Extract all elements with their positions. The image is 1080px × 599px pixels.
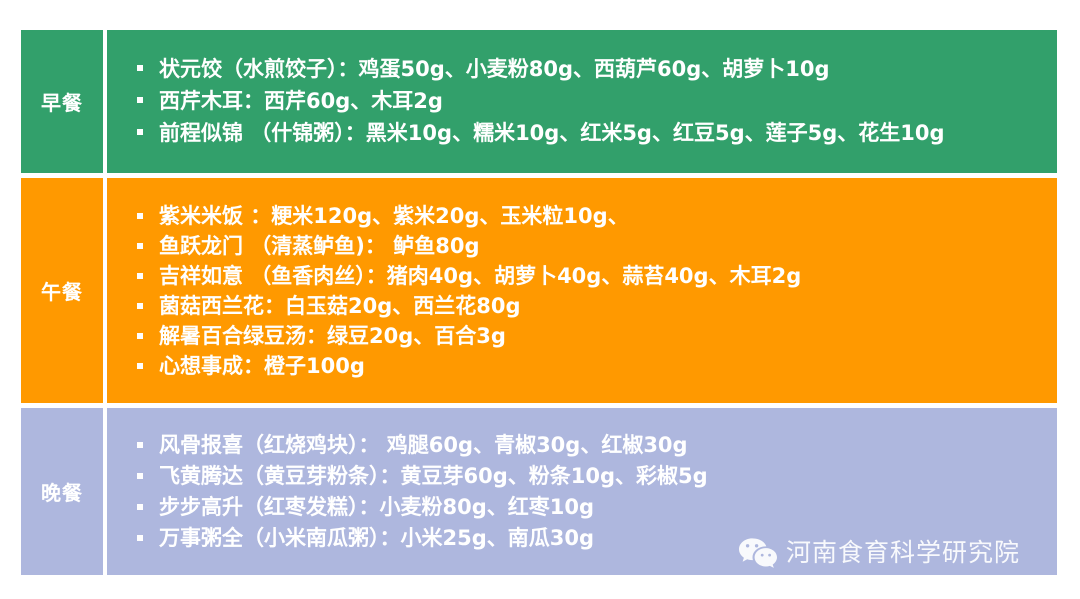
menu-item: 鱼跃龙门 （清蒸鲈鱼)： 鲈鱼80g bbox=[137, 231, 1047, 261]
menu-item: 万事粥全（小米南瓜粥）：小米25g、南瓜30g bbox=[137, 523, 1047, 554]
bullet-square-icon bbox=[137, 97, 143, 103]
menu-item: 飞黄腾达（黄豆芽粉条）：黄豆芽60g、粉条10g、彩椒5g bbox=[137, 461, 1047, 492]
menu-item-text: 鱼跃龙门 （清蒸鲈鱼)： 鲈鱼80g bbox=[159, 234, 479, 258]
menu-item: 西芹木耳：西芹60g、木耳2g bbox=[137, 85, 1047, 117]
bullet-square-icon bbox=[137, 333, 143, 339]
bullet-square-icon bbox=[137, 65, 143, 71]
menu-item-text: 万事粥全（小米南瓜粥）：小米25g、南瓜30g bbox=[159, 526, 594, 550]
menu-item: 吉祥如意 （鱼香肉丝）：猪肉40g、胡萝卜40g、蒜苔40g、木耳2g bbox=[137, 261, 1047, 291]
meal-row-breakfast: 早餐 状元饺（水煎饺子）：鸡蛋50g、小麦粉80g、西葫芦60g、胡萝卜10g … bbox=[21, 30, 1057, 173]
meal-row-lunch: 午餐 紫米米饭 ：粳米120g、紫米20g、玉米粒10g、 鱼跃龙门 （清蒸鲈鱼… bbox=[21, 178, 1057, 404]
bullet-square-icon bbox=[137, 129, 143, 135]
bullet-square-icon bbox=[137, 363, 143, 369]
menu-item: 紫米米饭 ：粳米120g、紫米20g、玉米粒10g、 bbox=[137, 201, 1047, 231]
meal-label-dinner: 晚餐 bbox=[21, 408, 103, 575]
bullet-square-icon bbox=[137, 535, 143, 541]
menu-item: 解暑百合绿豆汤：绿豆20g、百合3g bbox=[137, 321, 1047, 351]
menu-item-text: 吉祥如意 （鱼香肉丝）：猪肉40g、胡萝卜40g、蒜苔40g、木耳2g bbox=[159, 264, 801, 288]
bullet-square-icon bbox=[137, 504, 143, 510]
meal-items-breakfast: 状元饺（水煎饺子）：鸡蛋50g、小麦粉80g、西葫芦60g、胡萝卜10g 西芹木… bbox=[107, 30, 1057, 173]
menu-item: 状元饺（水煎饺子）：鸡蛋50g、小麦粉80g、西葫芦60g、胡萝卜10g bbox=[137, 53, 1047, 85]
menu-item-text: 西芹木耳：西芹60g、木耳2g bbox=[159, 89, 443, 113]
menu-item-text: 风骨报喜（红烧鸡块）： 鸡腿60g、青椒30g、红椒30g bbox=[159, 433, 688, 457]
menu-item: 前程似锦 （什锦粥）：黑米10g、糯米10g、红米5g、红豆5g、莲子5g、花生… bbox=[137, 117, 1047, 149]
menu-slide: 早餐 状元饺（水煎饺子）：鸡蛋50g、小麦粉80g、西葫芦60g、胡萝卜10g … bbox=[0, 0, 1080, 599]
menu-item: 心想事成：橙子100g bbox=[137, 351, 1047, 381]
meal-row-dinner: 晚餐 风骨报喜（红烧鸡块）： 鸡腿60g、青椒30g、红椒30g 飞黄腾达（黄豆… bbox=[21, 408, 1057, 575]
bullet-square-icon bbox=[137, 243, 143, 249]
menu-item-text: 飞黄腾达（黄豆芽粉条）：黄豆芽60g、粉条10g、彩椒5g bbox=[159, 464, 708, 488]
meal-items-dinner: 风骨报喜（红烧鸡块）： 鸡腿60g、青椒30g、红椒30g 飞黄腾达（黄豆芽粉条… bbox=[107, 408, 1057, 575]
daily-menu-table: 早餐 状元饺（水煎饺子）：鸡蛋50g、小麦粉80g、西葫芦60g、胡萝卜10g … bbox=[21, 30, 1057, 575]
menu-item-text: 前程似锦 （什锦粥）：黑米10g、糯米10g、红米5g、红豆5g、莲子5g、花生… bbox=[159, 121, 945, 145]
meal-items-lunch: 紫米米饭 ：粳米120g、紫米20g、玉米粒10g、 鱼跃龙门 （清蒸鲈鱼)： … bbox=[107, 178, 1057, 404]
menu-item: 风骨报喜（红烧鸡块）： 鸡腿60g、青椒30g、红椒30g bbox=[137, 430, 1047, 461]
menu-item-text: 解暑百合绿豆汤：绿豆20g、百合3g bbox=[159, 324, 506, 348]
bullet-square-icon bbox=[137, 213, 143, 219]
bullet-square-icon bbox=[137, 303, 143, 309]
bullet-square-icon bbox=[137, 442, 143, 448]
bullet-square-icon bbox=[137, 273, 143, 279]
menu-item-text: 心想事成：橙子100g bbox=[159, 354, 365, 378]
menu-item-text: 紫米米饭 ：粳米120g、紫米20g、玉米粒10g、 bbox=[159, 204, 629, 228]
meal-label-lunch: 午餐 bbox=[21, 178, 103, 404]
menu-item-text: 菌菇西兰花：白玉菇20g、西兰花80g bbox=[159, 294, 521, 318]
menu-item-text: 步步高升（红枣发糕）：小麦粉80g、红枣10g bbox=[159, 495, 594, 519]
meal-label-breakfast: 早餐 bbox=[21, 30, 103, 173]
menu-item-text: 状元饺（水煎饺子）：鸡蛋50g、小麦粉80g、西葫芦60g、胡萝卜10g bbox=[159, 57, 830, 81]
menu-item: 步步高升（红枣发糕）：小麦粉80g、红枣10g bbox=[137, 492, 1047, 523]
menu-item: 菌菇西兰花：白玉菇20g、西兰花80g bbox=[137, 291, 1047, 321]
bullet-square-icon bbox=[137, 473, 143, 479]
